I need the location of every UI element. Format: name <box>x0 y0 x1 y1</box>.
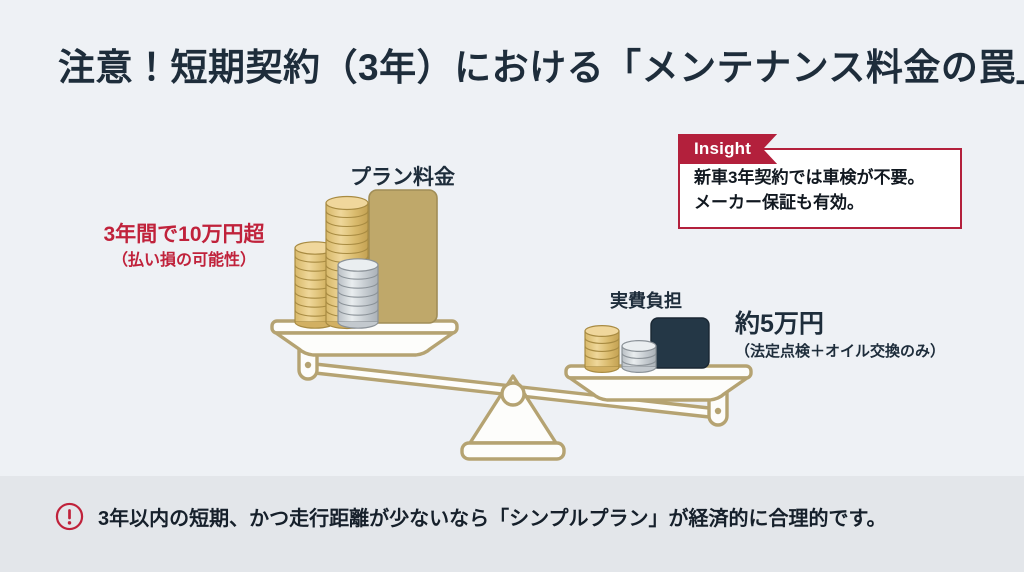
actual-cost-label: 実費負担 <box>610 287 682 313</box>
exclamation-circle-icon <box>55 502 84 531</box>
gold-coin-stack-small <box>585 326 619 373</box>
plan-fee-label: プラン料金 <box>350 161 455 191</box>
silver-coin-stack-small <box>622 341 656 373</box>
cost-warning-sub: （払い損の可能性） <box>84 250 284 272</box>
bottom-banner-content: 3年以内の短期、かつ走行距離が少ないなら「シンプルプラン」が経済的に合理的です。 <box>55 502 887 531</box>
actual-price-block: 約5万円 （法定点検＋オイル交換のみ） <box>735 310 945 361</box>
page-title: 注意！短期契約（3年）における「メンテナンス料金の罠」 <box>58 47 1024 90</box>
insight-ribbon-label: Insight <box>678 134 777 164</box>
silver-coin-stack <box>338 259 378 328</box>
actual-price-amount: 約5万円 <box>735 310 945 339</box>
insight-line-1: 新車3年契約では車検が不要。 <box>694 166 948 191</box>
cost-warning-main: 3年間で10万円超 <box>84 222 284 248</box>
cost-warning-callout: 3年間で10万円超 （払い損の可能性） <box>84 222 284 272</box>
insight-line-2: メーカー保証も有効。 <box>694 191 948 216</box>
slide-canvas: 注意！短期契約（3年）における「メンテナンス料金の罠」 <box>0 0 1024 572</box>
gold-coin-stack-a <box>295 242 335 328</box>
bottom-banner-text: 3年以内の短期、かつ走行距離が少ないなら「シンプルプラン」が経済的に合理的です。 <box>98 502 887 531</box>
actual-price-note: （法定点検＋オイル交換のみ） <box>735 342 945 362</box>
gold-coin-stack-b <box>326 197 368 329</box>
